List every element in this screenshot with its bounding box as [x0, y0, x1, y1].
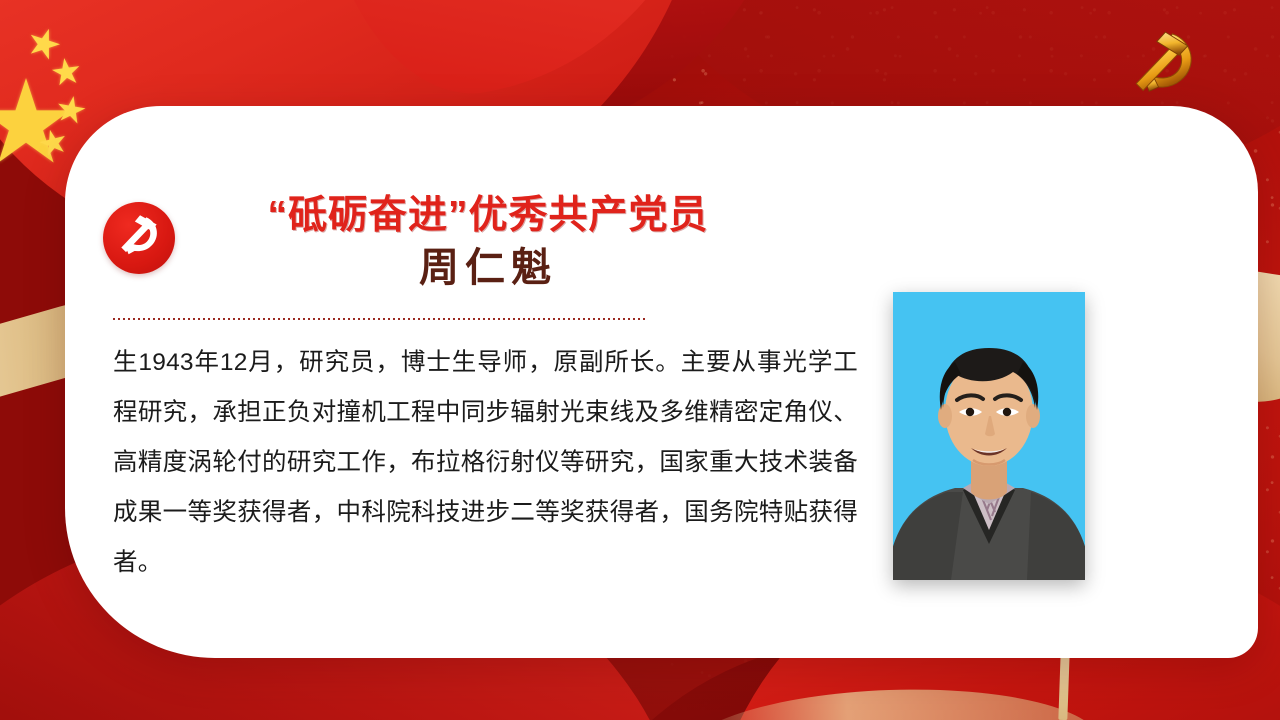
dotted-divider [113, 318, 646, 320]
flag-star-small-2-icon: ★ [48, 52, 85, 92]
slide-root: ★ ★ ★ ★ ★ [0, 0, 1280, 720]
page-title: “砥砺奋进”优秀共产党员 [183, 194, 793, 239]
portrait-photo [893, 292, 1085, 580]
person-name: 周仁魁 [183, 245, 793, 291]
biography-text: 生1943年12月，研究员，博士生导师，原副所长。主要从事光学工程研究，承担正负… [113, 338, 858, 588]
party-badge [103, 202, 175, 274]
hammer-sickle-icon [113, 210, 165, 267]
party-emblem-gold-icon [1118, 27, 1206, 99]
content-card: “砥砺奋进”优秀共产党员 周仁魁 生1943年12月，研究员，博士生导师，原副所… [65, 106, 1258, 658]
title-block: “砥砺奋进”优秀共产党员 周仁魁 [183, 194, 793, 291]
